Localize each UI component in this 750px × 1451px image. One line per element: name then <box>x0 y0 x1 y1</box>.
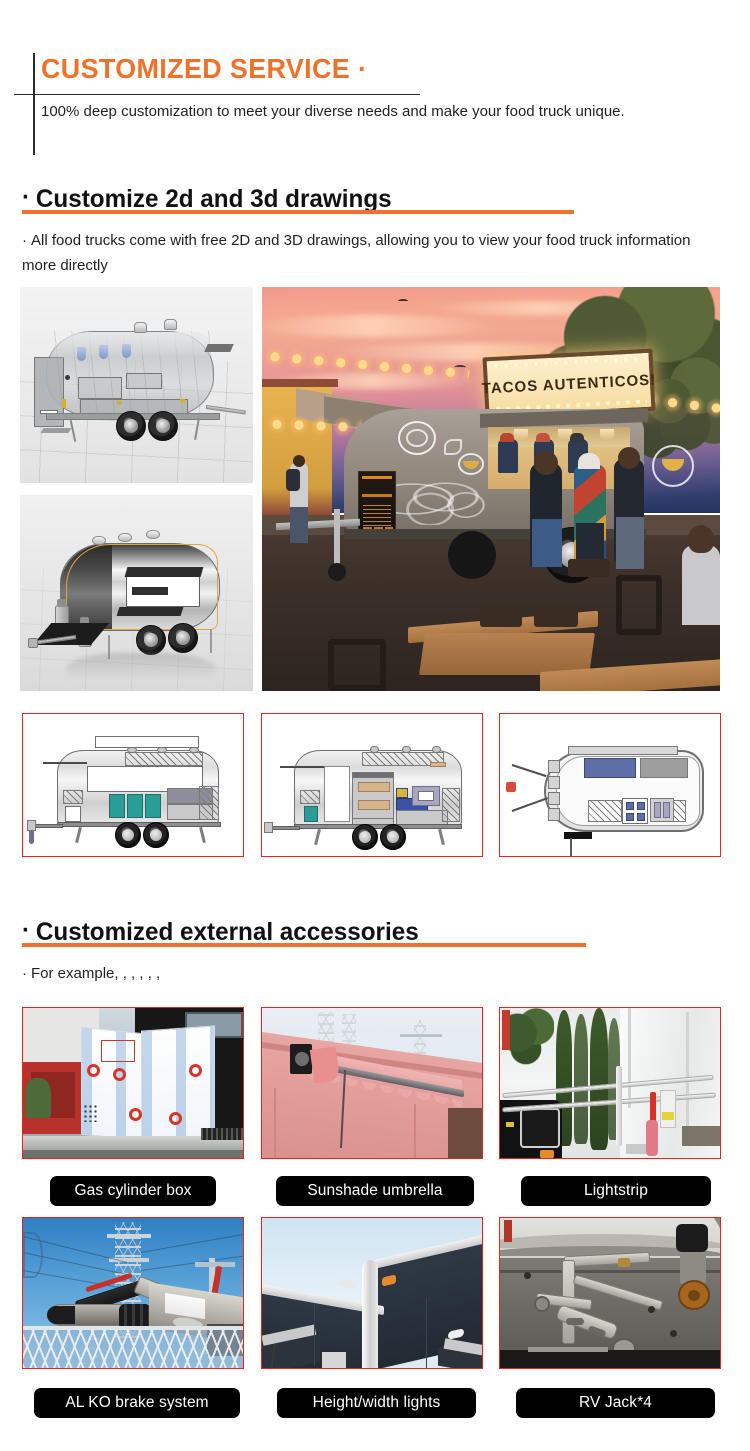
blueprint-side-view-2 <box>261 713 483 857</box>
header-vertical-rule <box>33 53 35 155</box>
accessory-photo-lightstrip <box>499 1007 721 1159</box>
page-subtitle: 100% deep customization to meet your div… <box>41 100 711 124</box>
marquee-sign-text: TACOS AUTENTICOS! <box>481 371 656 397</box>
section-description-drawings: ·All food trucks come with free 2D and 3… <box>22 228 728 278</box>
accessory-label-lightstrip: Lightstrip <box>521 1176 711 1206</box>
section-heading-accessories-label: Customized external accessories <box>36 918 419 946</box>
bullet-dot-icon: · <box>22 232 27 249</box>
blueprint-side-view-1 <box>22 713 244 857</box>
accessory-label-rv-jack: RV Jack*4 <box>516 1388 715 1418</box>
accessory-photo-alko-brake-system <box>22 1217 244 1369</box>
bullet-dot-icon: · <box>22 915 30 945</box>
section-underline-accessories <box>22 943 586 947</box>
accessory-photo-height-width-lights <box>261 1217 483 1369</box>
page-title: CUSTOMIZED SERVICE · <box>41 48 367 90</box>
accessory-photo-rv-jack <box>499 1217 721 1369</box>
section-heading-drawings-label: Customize 2d and 3d drawings <box>36 185 392 213</box>
bullet-dot-icon: · <box>22 965 27 982</box>
bullet-dot-icon: · <box>22 182 30 212</box>
photo-taco-truck: TACOS AUTENTICOS! <box>262 287 720 691</box>
menu-board <box>358 471 396 537</box>
accessory-photo-gas-cylinder-box <box>22 1007 244 1159</box>
section-description-accessories-text: For example, , , , , , <box>31 965 160 982</box>
accessory-label-gas-cylinder-box: Gas cylinder box <box>50 1176 216 1206</box>
accessory-label-alko-brake-system: AL KO brake system <box>34 1388 240 1418</box>
header-horizontal-rule <box>14 94 420 95</box>
accessory-label-sunshade-umbrella: Sunshade umbrella <box>276 1176 474 1206</box>
render-3d-solid <box>20 495 253 691</box>
accessory-photo-sunshade-umbrella <box>261 1007 483 1159</box>
section-description-accessories: ·For example, , , , , , <box>22 961 582 986</box>
blueprint-top-view <box>499 713 721 857</box>
accessory-label-height-width-lights: Height/width lights <box>277 1388 476 1418</box>
section-underline-drawings <box>22 210 574 214</box>
render-3d-transparent <box>20 287 253 483</box>
section-description-drawings-text: All food trucks come with free 2D and 3D… <box>22 232 690 274</box>
